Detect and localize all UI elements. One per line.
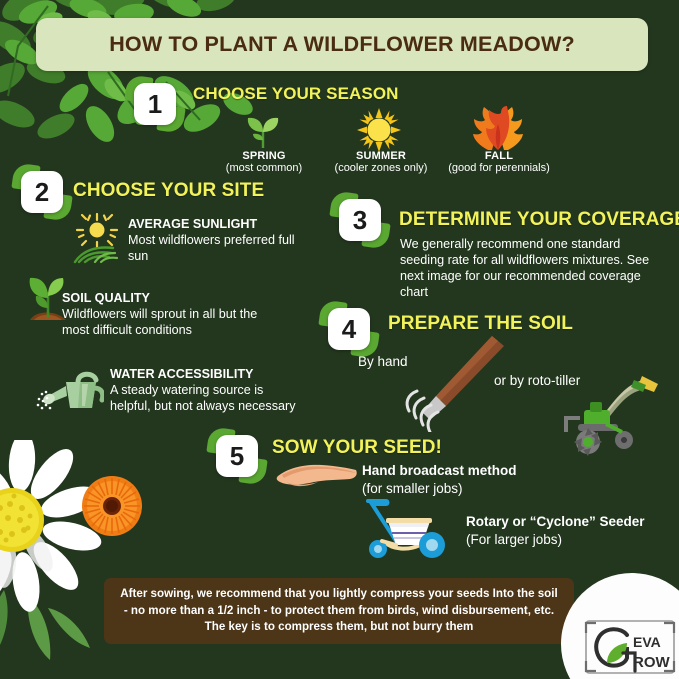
eva-grow-logo: EVA ROW: [559, 579, 679, 679]
logo-mark: EVA ROW: [583, 617, 679, 677]
step-4-badge: 4: [325, 305, 373, 353]
hand-broadcast-block: Hand broadcast method (for smaller jobs): [362, 462, 517, 497]
step-number-chip: 4: [328, 308, 370, 350]
orange-marigold-flower: [82, 476, 142, 536]
step-4-number: 4: [342, 316, 356, 342]
step-2-heading: CHOOSE YOUR SITE: [73, 180, 264, 202]
maple-leaf-icon: [470, 106, 526, 152]
step-3-number: 3: [353, 207, 367, 233]
season-note: (good for perennials): [443, 162, 555, 174]
step-2-badge: 2: [18, 168, 66, 216]
season-fall: FALL (good for perennials): [443, 150, 555, 174]
logo-text-eva: EVA: [633, 634, 661, 650]
soil-body: Wildflowers will sprout in all but the m…: [62, 307, 257, 337]
hand-broadcast-title: Hand broadcast method: [362, 463, 517, 478]
footer-line-2: - no more than a 1/2 inch - to protect t…: [124, 604, 554, 617]
step-5-heading: SOW YOUR SEED!: [272, 437, 442, 459]
sunlight-text-block: AVERAGE SUNLIGHT Most wildflowers prefer…: [128, 216, 318, 264]
step-number-chip: 1: [134, 83, 176, 125]
rotary-seeder-block: Rotary or “Cyclone” Seeder (For larger j…: [466, 513, 645, 548]
step-1-number: 1: [148, 91, 162, 117]
season-name: SUMMER: [326, 150, 436, 162]
sun-icon: [357, 108, 401, 152]
step-2-number: 2: [35, 179, 49, 205]
infographic-canvas: HOW TO PLANT A WILDFLOWER MEADOW? 1 CHOO…: [0, 0, 679, 679]
hand-broadcast-note: (for smaller jobs): [362, 481, 463, 496]
water-body: A steady watering source is helpful, but…: [110, 383, 296, 413]
footer-note-box: After sowing, we recommend that you ligh…: [104, 578, 574, 644]
footer-note-text: After sowing, we recommend that you ligh…: [108, 586, 569, 635]
roto-tiller-icon: [546, 366, 668, 458]
season-name: SPRING: [224, 150, 304, 162]
season-note: (most common): [224, 162, 304, 174]
open-hand-icon: [274, 462, 360, 494]
footer-line-3: The key is to compress them, but not bur…: [205, 620, 474, 633]
rotary-seeder-title: Rotary or “Cyclone” Seeder: [466, 514, 645, 529]
soil-text-block: SOIL QUALITY Wildflowers will sprout in …: [62, 290, 262, 338]
step-number-chip: 3: [339, 199, 381, 241]
rotary-seeder-icon: [352, 497, 462, 559]
seedling-icon: [243, 110, 283, 150]
season-note: (cooler zones only): [326, 162, 436, 174]
white-daisy-flower: [0, 440, 104, 614]
footer-line-1: After sowing, we recommend that you ligh…: [120, 587, 557, 600]
season-summer: SUMMER (cooler zones only): [326, 150, 436, 174]
soil-title: SOIL QUALITY: [62, 291, 150, 305]
sun-over-field-icon: [73, 212, 125, 264]
page-title-bar: HOW TO PLANT A WILDFLOWER MEADOW?: [36, 18, 648, 71]
step-number-chip: 5: [216, 435, 258, 477]
season-name: FALL: [443, 150, 555, 162]
step-3-heading: DETERMINE YOUR COVERAGE: [399, 209, 679, 231]
step-1-badge: 1: [131, 80, 179, 128]
season-spring: SPRING (most common): [224, 150, 304, 174]
logo-text-row: ROW: [633, 654, 671, 671]
page-title: HOW TO PLANT A WILDFLOWER MEADOW?: [109, 32, 575, 57]
daisy-leaves: [0, 590, 90, 666]
water-text-block: WATER ACCESSIBILITY A steady watering so…: [110, 366, 305, 414]
step-3-body: We generally recommend one standard seed…: [400, 236, 650, 300]
water-title: WATER ACCESSIBILITY: [110, 367, 253, 381]
sunlight-body: Most wildflowers preferred full sun: [128, 233, 295, 263]
step-3-badge: 3: [336, 196, 384, 244]
rotary-seeder-note: (For larger jobs): [466, 532, 562, 547]
step-1-heading: CHOOSE YOUR SEASON: [193, 84, 399, 104]
watering-can-icon: [36, 368, 104, 414]
step-5-number: 5: [230, 443, 244, 469]
step-5-badge: 5: [213, 432, 261, 480]
sunlight-title: AVERAGE SUNLIGHT: [128, 217, 257, 231]
step-number-chip: 2: [21, 171, 63, 213]
